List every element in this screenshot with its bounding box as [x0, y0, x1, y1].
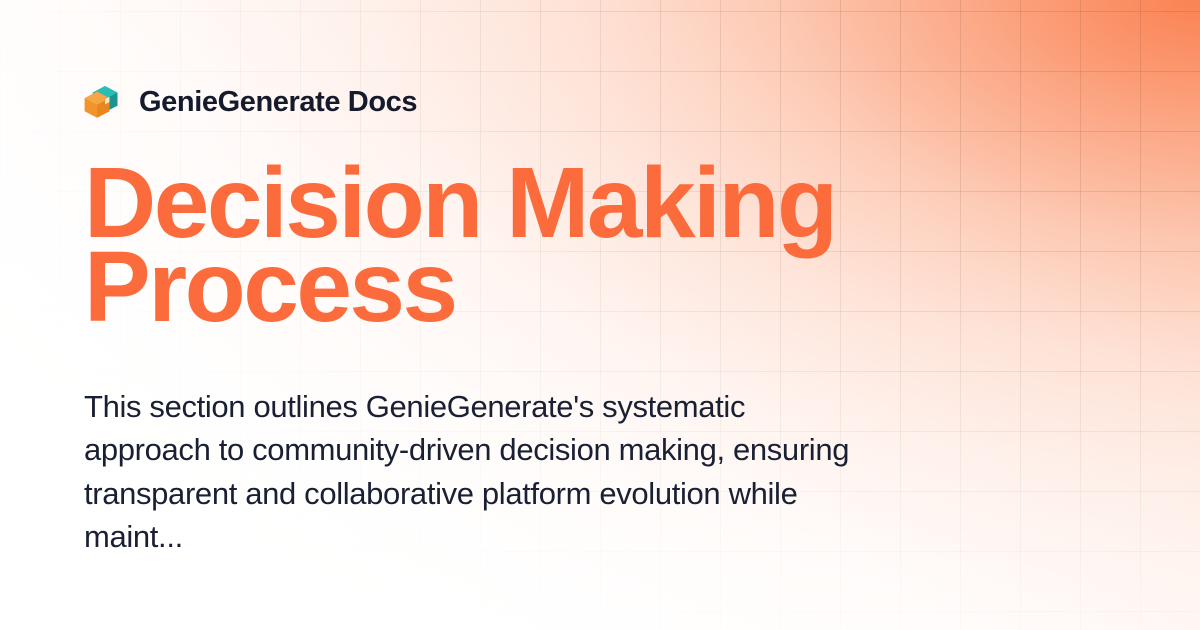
og-card: GenieGenerate Docs Decision Making Proce… — [0, 0, 1200, 630]
page-title: Decision Making Process — [84, 161, 884, 329]
card-content: GenieGenerate Docs Decision Making Proce… — [84, 0, 1024, 630]
geniegenerate-cube-logo-icon — [84, 83, 122, 121]
brand-lockup: GenieGenerate Docs — [84, 82, 417, 122]
page-description: This section outlines GenieGenerate's sy… — [84, 385, 874, 559]
brand-name-label: GenieGenerate Docs — [139, 88, 417, 117]
